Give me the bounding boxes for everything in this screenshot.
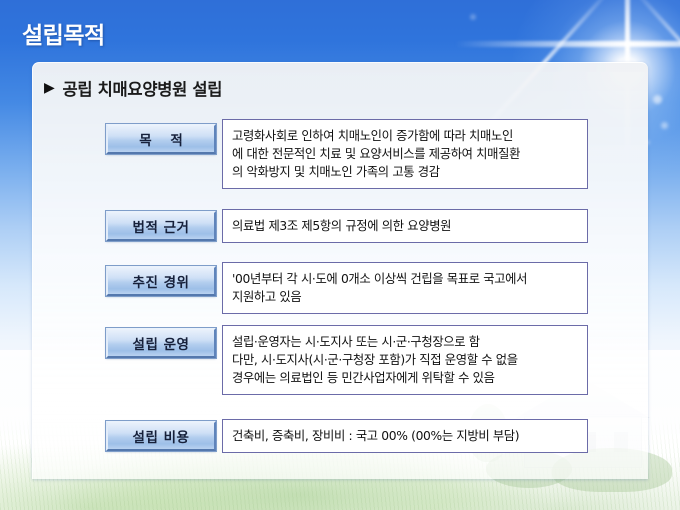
- row-content-progress: '00년부터 각 시·도에 0개소 이상씩 건립을 목표로 국고에서 지원하고 …: [222, 262, 588, 314]
- content-line: 의 악화방지 및 치매노인 가족의 고통 경감: [232, 163, 579, 181]
- slide-canvas: 설립목적 ▶ 공립 치매요양병원 설립 목 적 고령화사회로 인하여 치매노인이…: [0, 0, 680, 510]
- row-content-legal-basis: 의료법 제3조 제5항의 규정에 의한 요양병원: [222, 209, 588, 243]
- content-line: 고령화사회로 인하여 치매노인이 증가함에 따라 치매노인: [232, 127, 579, 145]
- row-content-purpose: 고령화사회로 인하여 치매노인이 증가함에 따라 치매노인 에 대한 전문적인 …: [222, 119, 588, 189]
- row-label-progress[interactable]: 추진 경위: [106, 266, 216, 296]
- row-label-legal-basis[interactable]: 법적 근거: [106, 211, 216, 241]
- row-content-establishment-cost: 건축비, 증축비, 장비비 : 국고 00% (00%는 지방비 부담): [222, 419, 588, 453]
- content-line: 건축비, 증축비, 장비비 : 국고 00% (00%는 지방비 부담): [232, 427, 579, 445]
- sun-ray-horizontal-icon: [455, 41, 680, 47]
- section-heading: ▶ 공립 치매요양병원 설립: [44, 76, 222, 100]
- content-line: 지원하고 있음: [232, 288, 579, 306]
- row-label-establishment-operation[interactable]: 설립 운영: [106, 328, 216, 358]
- section-heading-label: 공립 치매요양병원 설립: [62, 76, 222, 100]
- row-label-establishment-cost[interactable]: 설립 비용: [106, 421, 216, 451]
- bokeh-dot-icon: [661, 122, 668, 129]
- content-line: 에 대한 전문적인 치료 및 요양서비스를 제공하여 치매질환: [232, 145, 579, 163]
- content-line: 의료법 제3조 제5항의 규정에 의한 요양병원: [232, 217, 579, 235]
- bokeh-dot-icon: [653, 95, 662, 104]
- content-line: 다만, 시·도지사(시·군·구청장 포함)가 직접 운영할 수 없을: [232, 351, 579, 369]
- bokeh-dot-icon: [470, 14, 476, 20]
- content-line: 설립·운영자는 시·도지사 또는 시·군·구청장으로 함: [232, 333, 579, 351]
- row-content-establishment-operation: 설립·운영자는 시·도지사 또는 시·군·구청장으로 함 다만, 시·도지사(시…: [222, 325, 588, 395]
- row-label-purpose[interactable]: 목 적: [106, 124, 216, 154]
- content-line: 경우에는 의료법인 등 민간사업자에게 위탁할 수 있음: [232, 369, 579, 387]
- page-title: 설립목적: [22, 16, 105, 50]
- content-line: '00년부터 각 시·도에 0개소 이상씩 건립을 목표로 국고에서: [232, 270, 579, 288]
- triangle-bullet-icon: ▶: [44, 81, 54, 95]
